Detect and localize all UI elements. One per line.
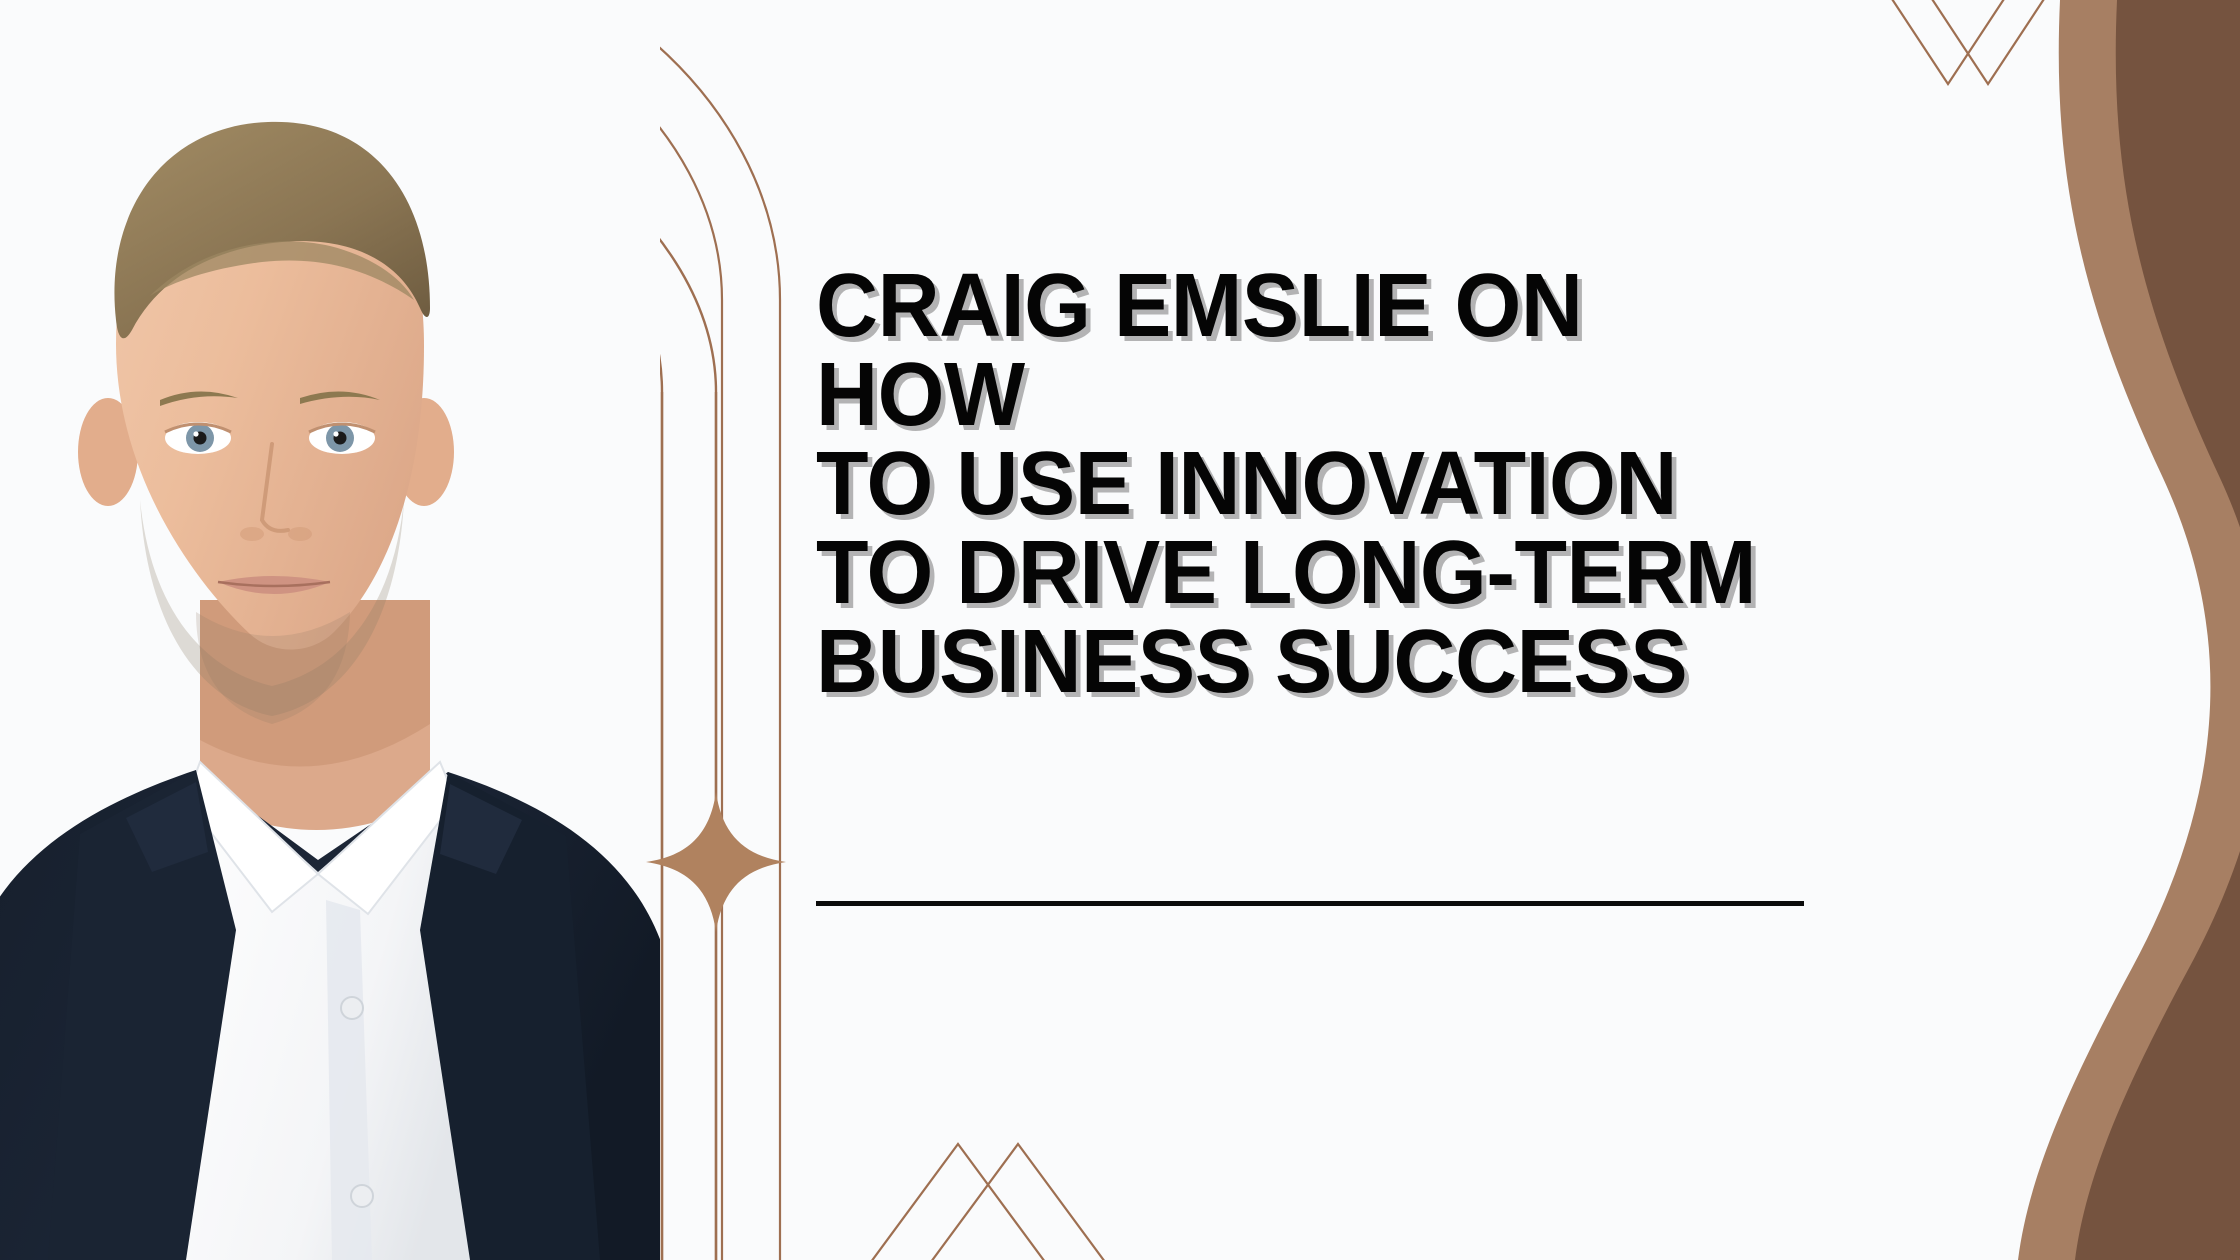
eye-right — [309, 422, 375, 454]
page-title: CRAIG EMSLIE ON HOW TO USE INNOVATION TO… — [816, 262, 1771, 707]
portrait-photo — [0, 0, 660, 1260]
eye-left — [165, 422, 231, 454]
portrait-illustration — [0, 0, 660, 1260]
title-block: CRAIG EMSLIE ON HOW TO USE INNOVATION TO… — [816, 262, 1816, 707]
four-point-sparkle-icon — [646, 792, 786, 932]
chevron-pair-up-icon — [806, 1144, 1170, 1260]
wave-back-shape — [2045, 0, 2240, 1260]
wave-front-shape — [2018, 0, 2240, 1260]
title-divider-rule — [816, 901, 1804, 906]
banner-canvas: CRAIG EMSLIE ON HOW TO USE INNOVATION TO… — [0, 0, 2240, 1260]
shirt-button — [341, 997, 363, 1019]
shirt-button — [351, 1185, 373, 1207]
chevron-pair-down-icon — [1836, 0, 2100, 84]
